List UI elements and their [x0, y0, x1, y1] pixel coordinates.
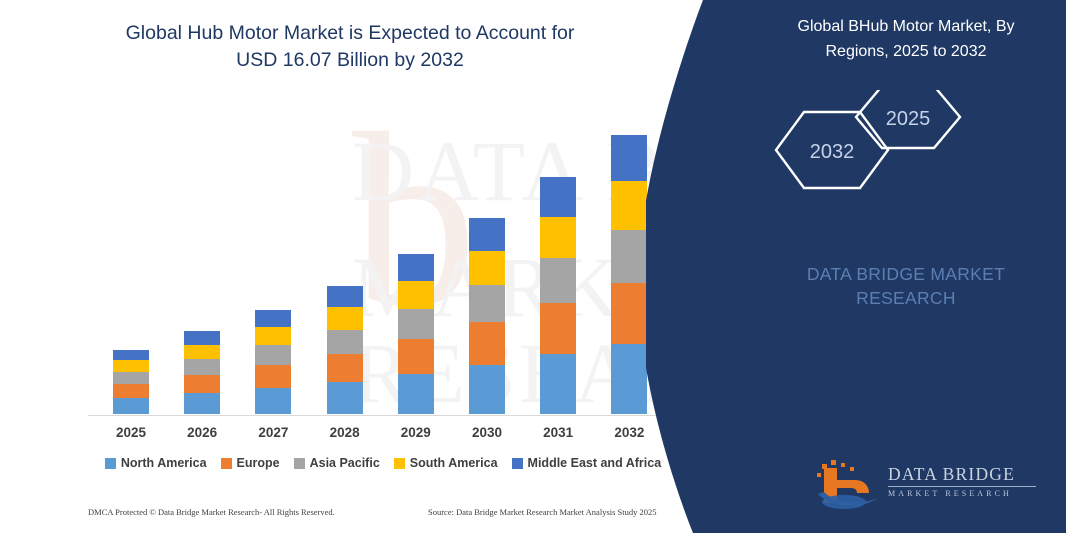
x-axis-line [88, 415, 678, 416]
bar-segment-2026-europe [184, 375, 220, 393]
side-panel: Global BHub Motor Market, By Regions, 20… [646, 0, 1066, 533]
side-panel-brand: DATA BRIDGE MARKET RESEARCH [756, 262, 1056, 310]
bar-2032 [611, 135, 647, 414]
x-axis-labels: 20252026202720282029203020312032 [88, 425, 678, 445]
bar-segment-2028-asia-pacific [327, 330, 363, 354]
bar-segment-2025-europe [113, 384, 149, 398]
bar-segment-2025-south-america [113, 360, 149, 371]
bar-2028 [327, 286, 363, 414]
bar-segment-2032-south-america [611, 181, 647, 230]
data-bridge-logo-mark [814, 458, 884, 512]
bar-segment-2027-south-america [255, 327, 291, 345]
data-bridge-logo: DATA BRIDGE MARKET RESEARCH [814, 458, 1034, 514]
legend-item-south-america[interactable]: South America [394, 456, 498, 470]
chart-title-line-1: Global Hub Motor Market is Expected to A… [126, 22, 575, 44]
bar-segment-2032-asia-pacific [611, 230, 647, 283]
legend-item-middle-east-and-africa[interactable]: Middle East and Africa [512, 456, 662, 470]
legend-label: Asia Pacific [310, 456, 380, 470]
bar-segment-2028-europe [327, 354, 363, 382]
bar-2025 [113, 350, 149, 414]
bar-segment-2027-europe [255, 365, 291, 388]
side-panel-title-line-2: Regions, 2025 to 2032 [825, 43, 986, 60]
bar-segment-2028-middle-east-and-africa [327, 286, 363, 308]
legend-label: Middle East and Africa [528, 456, 662, 470]
chart-plot-area [88, 110, 678, 416]
chart-legend: North AmericaEuropeAsia PacificSouth Ame… [88, 456, 678, 470]
bar-segment-2031-south-america [540, 217, 576, 258]
bar-2031 [540, 177, 576, 414]
bar-segment-2031-asia-pacific [540, 258, 576, 303]
legend-item-asia-pacific[interactable]: Asia Pacific [294, 456, 380, 470]
x-axis-label-2026: 2026 [172, 425, 232, 440]
x-axis-label-2027: 2027 [243, 425, 303, 440]
chart-title: Global Hub Motor Market is Expected to A… [88, 20, 612, 74]
legend-label: Europe [237, 456, 280, 470]
side-panel-brand-line-1: DATA BRIDGE MARKET [807, 264, 1005, 284]
chart-title-line-2: USD 16.07 Billion by 2032 [236, 49, 464, 71]
x-axis-label-2030: 2030 [457, 425, 517, 440]
bar-segment-2025-north-america [113, 398, 149, 414]
bar-segment-2030-middle-east-and-africa [469, 218, 505, 251]
bar-segment-2029-asia-pacific [398, 309, 434, 339]
bar-segment-2028-south-america [327, 307, 363, 330]
logo-sub-text: MARKET RESEARCH [888, 489, 1036, 498]
bar-segment-2025-middle-east-and-africa [113, 350, 149, 360]
legend-swatch-icon [512, 458, 523, 469]
bar-segment-2030-asia-pacific [469, 285, 505, 322]
bar-segment-2030-europe [469, 322, 505, 365]
bar-segment-2031-europe [540, 303, 576, 354]
bar-segment-2030-south-america [469, 251, 505, 285]
legend-label: North America [121, 456, 207, 470]
side-panel-brand-line-2: RESEARCH [856, 288, 956, 308]
x-axis-label-2029: 2029 [386, 425, 446, 440]
infographic-root: b DATA BRIDGE MARKET RESEARCH Global Hub… [0, 0, 1066, 533]
bar-segment-2026-north-america [184, 393, 220, 414]
x-axis-label-2031: 2031 [528, 425, 588, 440]
bar-segment-2029-south-america [398, 281, 434, 309]
bar-segment-2032-north-america [611, 344, 647, 414]
bar-segment-2027-asia-pacific [255, 345, 291, 365]
bar-group [88, 110, 678, 415]
bar-segment-2032-middle-east-and-africa [611, 135, 647, 181]
data-bridge-logo-text: DATA BRIDGE MARKET RESEARCH [888, 464, 1036, 498]
bar-segment-2031-middle-east-and-africa [540, 177, 576, 217]
bar-segment-2029-north-america [398, 374, 434, 414]
bar-segment-2025-asia-pacific [113, 372, 149, 384]
legend-swatch-icon [294, 458, 305, 469]
x-axis-label-2028: 2028 [315, 425, 375, 440]
legend-swatch-icon [105, 458, 116, 469]
legend-swatch-icon [394, 458, 405, 469]
bar-segment-2029-middle-east-and-africa [398, 254, 434, 281]
bar-2027 [255, 310, 291, 414]
bar-segment-2026-middle-east-and-africa [184, 331, 220, 345]
footer: DMCA Protected © Data Bridge Market Rese… [0, 507, 700, 527]
bar-segment-2027-north-america [255, 388, 291, 414]
bar-segment-2029-europe [398, 339, 434, 374]
hexagon-2032-label: 2032 [810, 141, 855, 163]
bar-2029 [398, 254, 434, 414]
hexagon-badges: 2032 2025 [756, 90, 1056, 220]
bar-segment-2032-europe [611, 283, 647, 344]
side-panel-title: Global BHub Motor Market, By Regions, 20… [756, 14, 1056, 64]
logo-main-text: DATA BRIDGE [888, 464, 1036, 485]
legend-item-europe[interactable]: Europe [221, 456, 280, 470]
logo-divider [888, 486, 1036, 487]
x-axis-label-2025: 2025 [101, 425, 161, 440]
bar-segment-2026-asia-pacific [184, 359, 220, 375]
bar-2030 [469, 218, 505, 414]
hexagon-2025-label: 2025 [886, 108, 931, 130]
bar-segment-2030-north-america [469, 365, 505, 414]
bar-segment-2031-north-america [540, 354, 576, 414]
bar-2026 [184, 331, 220, 414]
legend-item-north-america[interactable]: North America [105, 456, 207, 470]
footer-source: Source: Data Bridge Market Research Mark… [428, 507, 657, 517]
side-panel-title-line-1: Global BHub Motor Market, By [798, 18, 1015, 35]
bar-segment-2026-south-america [184, 345, 220, 360]
bar-segment-2027-middle-east-and-africa [255, 310, 291, 327]
legend-swatch-icon [221, 458, 232, 469]
legend-label: South America [410, 456, 498, 470]
footer-copyright: DMCA Protected © Data Bridge Market Rese… [88, 507, 335, 517]
bar-segment-2028-north-america [327, 382, 363, 414]
